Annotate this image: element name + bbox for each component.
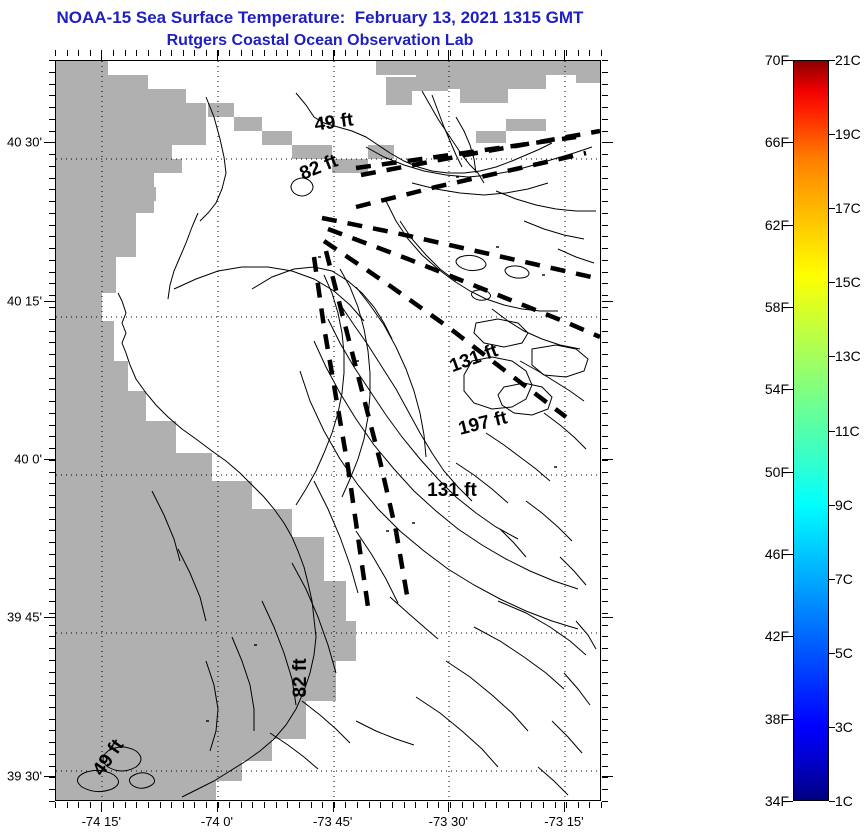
axis-tick [602,154,608,155]
axis-tick [602,213,608,214]
axis-tick [496,802,497,808]
colorbar-label-celsius: 11C [835,423,860,439]
axis-tick [49,272,55,273]
axis-tick [602,425,608,426]
axis-tick [160,802,161,808]
axis-tick [49,578,55,579]
axis-tick [462,802,463,808]
axis-tick [49,213,55,214]
axis-tick [543,802,544,808]
axis-tick [49,707,55,708]
figure-title-block: NOAA-15 Sea Surface Temperature: Februar… [0,6,640,52]
axis-tick [276,802,277,808]
axis-tick [49,766,55,767]
x-axis-label: -74 0' [201,814,233,829]
axis-tick [49,166,55,167]
colorbar-label-celsius: 15C [835,274,861,290]
axis-tick [49,131,55,132]
axis-tick [252,50,253,56]
colorbar-label-fahrenheit: 66F [765,134,789,150]
axis-tick [345,50,346,56]
axis-tick [601,50,602,56]
axis-tick [49,295,55,296]
axis-tick [415,802,416,808]
axis-tick [602,578,608,579]
axis-tick [602,272,608,273]
axis-tick [392,802,393,808]
axis-tick [392,50,393,56]
colorbar-label-celsius: 21C [835,52,861,68]
colorbar-label-celsius: 7C [835,571,853,587]
axis-tick [67,802,68,808]
colorbar-label-fahrenheit: 42F [765,628,789,644]
axis-tick [252,802,253,808]
axis-tick [299,802,300,808]
axis-tick [49,483,55,484]
axis-tick [602,460,608,461]
axis-tick [49,789,55,790]
axis-tick [602,648,608,649]
axis-tick [49,648,55,649]
axis-tick-major [448,802,449,812]
axis-tick [276,50,277,56]
axis-tick-major [602,142,613,143]
axis-tick [602,201,608,202]
axis-tick [241,50,242,56]
axis-tick [485,802,486,808]
axis-tick [602,754,608,755]
axis-tick [49,566,55,567]
axis-tick [49,342,55,343]
axis-tick [171,50,172,56]
axis-tick [49,401,55,402]
axis-tick [194,802,195,808]
axis-tick-major [101,50,102,60]
axis-tick-major [44,459,55,460]
axis-tick [125,802,126,808]
axis-tick [531,802,532,808]
x-axis-label: -73 30' [429,814,468,829]
axis-tick [369,802,370,808]
axis-tick [602,283,608,284]
axis-tick [602,236,608,237]
axis-tick-major [333,50,334,60]
axis-tick [602,131,608,132]
y-axis-ticks-left [44,60,55,801]
axis-tick [473,802,474,808]
axis-tick-major [44,776,55,777]
axis-tick-major [333,802,334,812]
axis-tick [602,683,608,684]
axis-tick [49,625,55,626]
axis-tick [357,802,358,808]
axis-tick [602,342,608,343]
axis-tick [345,802,346,808]
x-axis-label: -74 15' [82,814,121,829]
axis-tick [508,802,509,808]
axis-tick [49,248,55,249]
axis-tick [287,802,288,808]
colorbar-label-celsius: 3C [835,719,853,735]
axis-tick [148,802,149,808]
axis-tick [602,507,608,508]
axis-tick [369,50,370,56]
x-axis-label: -73 15' [544,814,583,829]
colorbar-label-fahrenheit: 50F [765,464,789,480]
axis-tick [49,495,55,496]
x-axis-ticks-bottom [55,802,601,812]
axis-tick [602,589,608,590]
axis-tick [602,542,608,543]
axis-tick [49,366,55,367]
axis-tick [49,236,55,237]
axis-tick-major [44,617,55,618]
colorbar-label-celsius: 13C [835,348,861,364]
axis-tick [49,542,55,543]
axis-tick [602,530,608,531]
axis-tick [113,802,114,808]
axis-tick [555,50,556,56]
axis-tick [602,378,608,379]
colorbar-label-fahrenheit: 34F [765,793,789,809]
x-axis-label: -73 45' [313,814,352,829]
axis-tick [49,425,55,426]
axis-tick [49,754,55,755]
axis-tick [311,802,312,808]
axis-tick [602,295,608,296]
colorbar-label-fahrenheit: 58F [765,299,789,315]
axis-tick [380,50,381,56]
colorbar-label-celsius: 5C [835,645,853,661]
axis-tick-major [217,802,218,812]
axis-tick [264,50,265,56]
axis-tick [566,802,567,808]
axis-tick [49,636,55,637]
page-subtitle: Rutgers Coastal Ocean Observation Lab [0,29,640,52]
axis-tick [602,566,608,567]
axis-tick [49,472,55,473]
axis-tick [49,354,55,355]
axis-tick [543,50,544,56]
axis-tick [171,802,172,808]
axis-tick [49,601,55,602]
axis-tick [602,107,608,108]
axis-tick [602,801,608,802]
axis-tick [602,84,608,85]
axis-tick [49,378,55,379]
axis-tick [49,448,55,449]
axis-tick [229,50,230,56]
axis-tick [49,189,55,190]
axis-tick [49,60,55,61]
y-axis-label: 39 30' [0,768,42,783]
axis-tick [602,436,608,437]
axis-tick [287,50,288,56]
axis-tick [125,50,126,56]
y-axis-label: 40 15' [0,293,42,308]
y-axis-label: 40 30' [0,135,42,150]
axis-tick-major [101,802,102,812]
axis-tick-major [44,301,55,302]
axis-tick [602,695,608,696]
axis-tick [578,802,579,808]
axis-tick [113,50,114,56]
axis-tick [589,50,590,56]
x-axis-ticks-top [55,50,601,60]
axis-tick [438,802,439,808]
axis-tick [322,50,323,56]
axis-tick [380,802,381,808]
colorbar-label-fahrenheit: 54F [765,381,789,397]
axis-tick [49,95,55,96]
axis-tick [496,50,497,56]
axis-tick [49,519,55,520]
axis-tick [206,50,207,56]
axis-tick [427,802,428,808]
axis-tick [49,589,55,590]
axis-tick [602,519,608,520]
axis-tick [473,50,474,56]
axis-tick [602,625,608,626]
axis-tick [602,730,608,731]
axis-tick [602,331,608,332]
axis-tick [49,660,55,661]
axis-tick [404,50,405,56]
temperature-colorbar[interactable]: 70F66F62F58F54F50F46F42F38F34F 21C19C17C… [793,60,829,801]
colorbar-label-fahrenheit: 46F [765,546,789,562]
colorbar-label-celsius: 19C [835,126,861,142]
axis-tick [602,401,608,402]
axis-tick [602,60,608,61]
colorbar-gradient [793,60,829,801]
axis-tick [485,50,486,56]
axis-tick [55,802,56,808]
axis-tick [555,802,556,808]
axis-tick [49,154,55,155]
axis-tick [602,413,608,414]
axis-tick [49,730,55,731]
axis-tick [602,707,608,708]
colorbar-label-fahrenheit: 38F [765,711,789,727]
axis-tick [602,554,608,555]
axis-tick [49,695,55,696]
axis-tick [229,802,230,808]
axis-tick [55,50,56,56]
axis-tick [601,802,602,808]
axis-tick [589,802,590,808]
axis-tick-major [602,617,613,618]
axis-tick [299,50,300,56]
axis-tick [602,389,608,390]
colorbar-label-celsius: 1C [835,793,853,809]
axis-tick-major [564,50,565,60]
axis-tick [160,50,161,56]
axis-tick [49,507,55,508]
axis-tick [136,50,137,56]
axis-tick [49,72,55,73]
axis-tick [404,802,405,808]
axis-tick [322,802,323,808]
axis-tick [49,178,55,179]
axis-tick [49,436,55,437]
axis-tick [334,50,335,56]
axis-tick [602,483,608,484]
axis-tick [427,50,428,56]
axis-tick [49,742,55,743]
sst-map-figure: NOAA-15 Sea Surface Temperature: Februar… [0,0,864,832]
axis-tick [136,802,137,808]
axis-tick [49,672,55,673]
axis-tick [450,802,451,808]
axis-tick [194,50,195,56]
depth-contour-label: 82 ft [290,658,312,697]
axis-tick [49,225,55,226]
axis-tick-major [602,301,613,302]
axis-tick [602,742,608,743]
colorbar-label-celsius: 17C [835,200,861,216]
axis-tick [602,354,608,355]
axis-tick [49,683,55,684]
axis-tick [602,72,608,73]
axis-tick [602,719,608,720]
axis-tick [602,766,608,767]
axis-tick [148,50,149,56]
axis-tick [508,50,509,56]
depth-contour-label: 131 ft [427,480,477,502]
axis-tick [602,189,608,190]
axis-tick [602,660,608,661]
colorbar-label-celsius: 9C [835,497,853,513]
axis-tick [183,50,184,56]
colorbar-label-fahrenheit: 62F [765,217,789,233]
axis-tick-major [44,142,55,143]
axis-tick [334,802,335,808]
axis-tick [578,50,579,56]
axis-tick [602,777,608,778]
axis-tick [602,260,608,261]
axis-tick [602,166,608,167]
axis-tick-major [602,459,613,460]
axis-tick [49,777,55,778]
axis-tick [602,672,608,673]
axis-tick [311,50,312,56]
axis-tick [67,50,68,56]
axis-tick [602,95,608,96]
axis-tick [602,319,608,320]
y-axis-labels: 40 30'40 15'40 0'39 45'39 30' [0,0,42,832]
axis-tick [78,802,79,808]
axis-tick [241,802,242,808]
axis-tick [78,50,79,56]
axis-tick [90,50,91,56]
axis-tick [450,50,451,56]
axis-tick [531,50,532,56]
axis-tick [602,119,608,120]
axis-tick [49,331,55,332]
axis-tick [602,178,608,179]
axis-tick [49,413,55,414]
axis-tick [49,460,55,461]
axis-tick [90,802,91,808]
axis-tick [49,201,55,202]
axis-tick [602,307,608,308]
axis-tick [49,107,55,108]
axis-tick [49,260,55,261]
page-title: NOAA-15 Sea Surface Temperature: Februar… [0,6,640,29]
axis-tick [357,50,358,56]
y-axis-ticks-right [602,60,613,801]
axis-tick [602,613,608,614]
axis-tick [206,802,207,808]
axis-tick [49,119,55,120]
y-axis-label: 40 0' [0,452,42,467]
axis-tick [602,495,608,496]
axis-tick [49,307,55,308]
colorbar-label-fahrenheit: 70F [765,52,789,68]
axis-tick [602,366,608,367]
axis-tick [462,50,463,56]
axis-tick [49,801,55,802]
axis-tick-major [602,776,613,777]
axis-tick [49,530,55,531]
axis-tick [602,448,608,449]
axis-tick [49,554,55,555]
axis-tick [602,601,608,602]
map-plot-area[interactable]: 49 ft82 ft131 ft197 ft131 ft82 ft49 ft [55,60,601,801]
axis-tick [602,248,608,249]
axis-tick [438,50,439,56]
axis-tick [49,613,55,614]
axis-tick [415,50,416,56]
axis-tick [49,389,55,390]
axis-tick [566,50,567,56]
axis-tick [264,802,265,808]
axis-tick [49,283,55,284]
axis-tick-major [564,802,565,812]
axis-tick [602,225,608,226]
axis-tick [520,50,521,56]
y-axis-label: 39 45' [0,610,42,625]
axis-tick [602,789,608,790]
axis-tick [49,319,55,320]
axis-tick [602,472,608,473]
axis-tick [602,636,608,637]
axis-tick-major [448,50,449,60]
axis-tick [49,84,55,85]
axis-tick-major [217,50,218,60]
axis-tick [183,802,184,808]
axis-tick [520,802,521,808]
axis-tick [49,719,55,720]
